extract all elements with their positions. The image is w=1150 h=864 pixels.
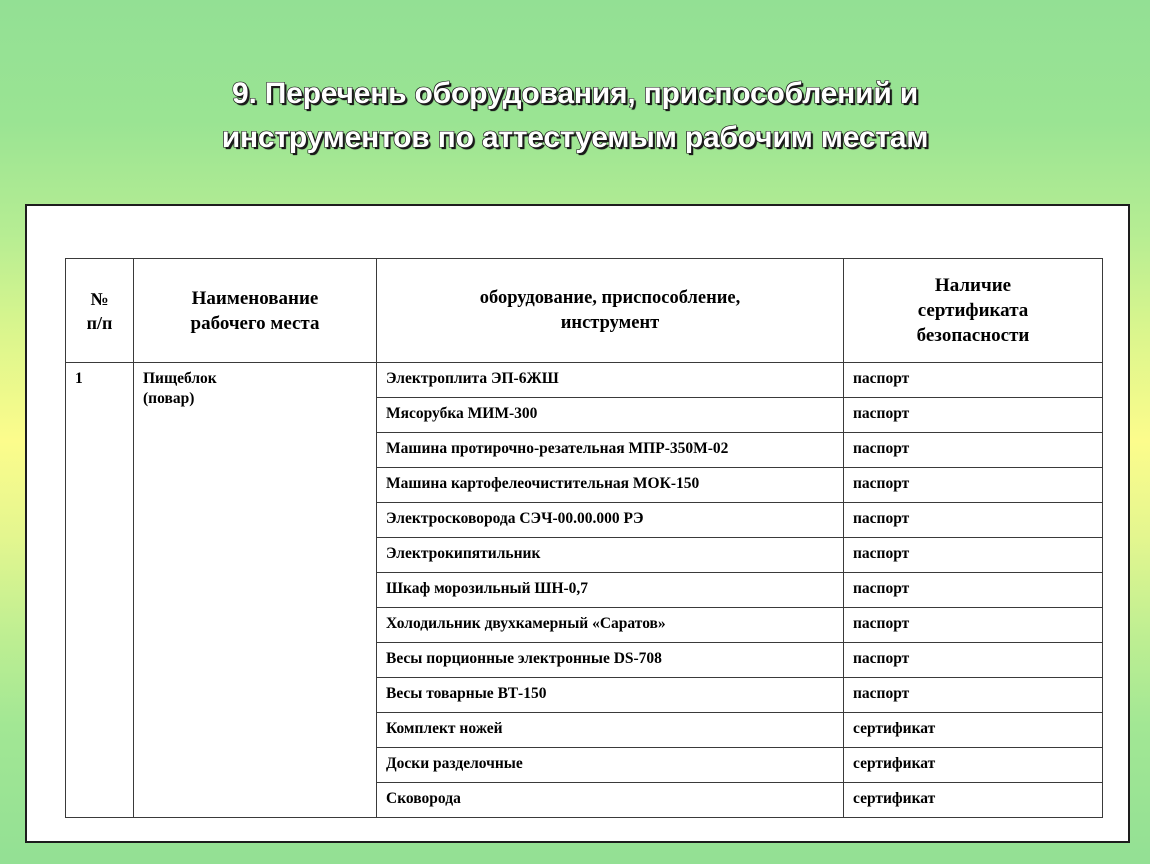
cell-equipment: Весы порционные электронные DS-708 <box>377 643 844 678</box>
cell-certificate: паспорт <box>844 678 1103 713</box>
cell-equipment: Машина протирочно-резательная МПР-350М-0… <box>377 433 844 468</box>
cell-equipment: Сковорода <box>377 783 844 818</box>
cell-certificate: паспорт <box>844 468 1103 503</box>
column-header-workplace: Наименование рабочего места <box>134 259 377 363</box>
cell-certificate: паспорт <box>844 538 1103 573</box>
equipment-table: № п/п Наименование рабочего места оборуд… <box>65 258 1103 818</box>
cell-certificate: паспорт <box>844 503 1103 538</box>
cell-certificate: паспорт <box>844 363 1103 398</box>
cell-certificate: паспорт <box>844 398 1103 433</box>
table-header-row: № п/п Наименование рабочего места оборуд… <box>66 259 1103 363</box>
column-header-number: № п/п <box>66 259 134 363</box>
cell-workplace: Пищеблок (повар) <box>134 363 377 818</box>
cell-equipment: Электрокипятильник <box>377 538 844 573</box>
column-header-certificate: Наличие сертификата безопасности <box>844 259 1103 363</box>
cell-certificate: сертификат <box>844 748 1103 783</box>
cell-equipment: Электросковорода СЭЧ-00.00.000 РЭ <box>377 503 844 538</box>
table-body: 1Пищеблок (повар)Электроплита ЭП-6ЖШпасп… <box>66 363 1103 818</box>
cell-certificate: сертификат <box>844 713 1103 748</box>
cell-certificate: паспорт <box>844 573 1103 608</box>
page-title: 9. Перечень оборудования, приспособлений… <box>0 72 1150 160</box>
cell-equipment: Весы товарные ВТ-150 <box>377 678 844 713</box>
cell-certificate: паспорт <box>844 608 1103 643</box>
content-panel: № п/п Наименование рабочего места оборуд… <box>25 204 1130 843</box>
cell-equipment: Доски разделочные <box>377 748 844 783</box>
cell-equipment: Машина картофелеочистительная МОК-150 <box>377 468 844 503</box>
cell-equipment: Шкаф морозильный ШН-0,7 <box>377 573 844 608</box>
cell-equipment: Холодильник двухкамерный «Саратов» <box>377 608 844 643</box>
cell-row-number: 1 <box>66 363 134 818</box>
cell-certificate: паспорт <box>844 643 1103 678</box>
cell-certificate: паспорт <box>844 433 1103 468</box>
column-header-equipment: оборудование, приспособление, инструмент <box>377 259 844 363</box>
cell-certificate: сертификат <box>844 783 1103 818</box>
cell-equipment: Комплект ножей <box>377 713 844 748</box>
table-header: № п/п Наименование рабочего места оборуд… <box>66 259 1103 363</box>
table-row: 1Пищеблок (повар)Электроплита ЭП-6ЖШпасп… <box>66 363 1103 398</box>
cell-equipment: Электроплита ЭП-6ЖШ <box>377 363 844 398</box>
cell-equipment: Мясорубка МИМ-300 <box>377 398 844 433</box>
